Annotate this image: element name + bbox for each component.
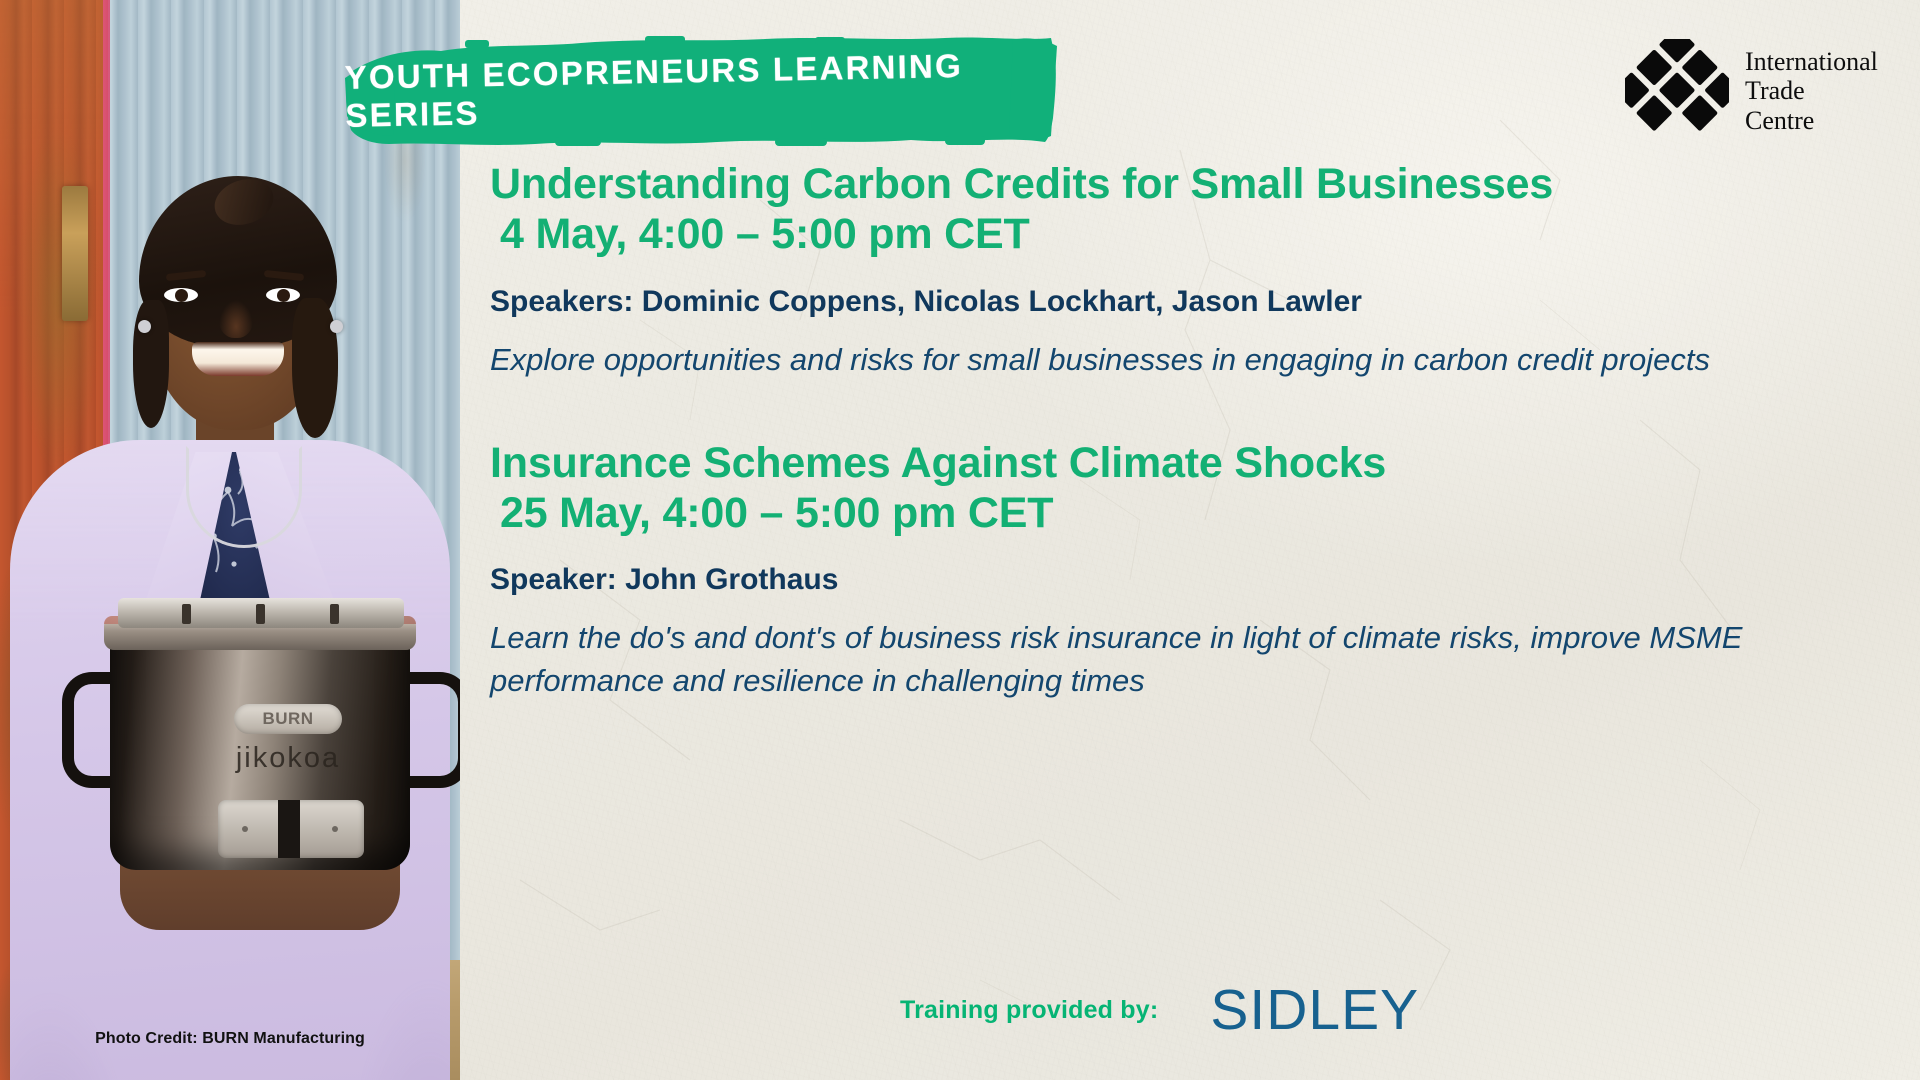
- itc-logo: International Trade Centre: [1625, 36, 1885, 146]
- session-block-1: Understanding Carbon Credits for Small B…: [490, 160, 1850, 381]
- footer-sponsor-row: Training provided by: SIDLEY: [900, 962, 1540, 1058]
- photo-credit: Photo Credit: BURN Manufacturing: [0, 1030, 460, 1048]
- itc-woven-diamond-icon: [1625, 39, 1729, 143]
- sidley-logo: SIDLEY: [1210, 977, 1419, 1043]
- photo-stove-lid-slot-1: [182, 604, 191, 624]
- photo-stove-vent-dot-1: [242, 826, 248, 832]
- session-2-speakers: Speaker: John Grothaus: [490, 563, 1850, 597]
- session-2-title: Insurance Schemes Against Climate Shocks: [490, 439, 1850, 488]
- sessions-content: Understanding Carbon Credits for Small B…: [490, 160, 1850, 702]
- itc-word-line2: Trade: [1745, 76, 1878, 105]
- training-provided-by-label: Training provided by:: [900, 996, 1158, 1025]
- session-2-description: Learn the do's and dont's of business ri…: [490, 617, 1850, 701]
- photo-stove-vent-dot-2: [332, 826, 338, 832]
- photo-stove-badge-label: BURN: [234, 706, 342, 732]
- photo-hair-right: [292, 298, 338, 438]
- series-banner: Youth Ecopreneurs Learning Series: [345, 32, 1060, 147]
- session-1-speakers: Speakers: Dominic Coppens, Nicolas Lockh…: [490, 285, 1850, 319]
- hero-photo: BURN jikokoa Photo Credit: BURN Manufact…: [0, 0, 460, 1080]
- photo-stove-lid-slot-2: [256, 604, 265, 624]
- itc-word-line1: International: [1745, 47, 1878, 76]
- photo-hands: [120, 860, 400, 930]
- session-1-description: Explore opportunities and risks for smal…: [490, 339, 1850, 381]
- photo-earring-right: [330, 320, 343, 333]
- session-1-title: Understanding Carbon Credits for Small B…: [490, 160, 1850, 209]
- series-banner-label: Youth Ecopreneurs Learning Series: [344, 25, 1061, 154]
- session-block-2: Insurance Schemes Against Climate Shocks…: [490, 439, 1850, 702]
- itc-logo-wordmark: International Trade Centre: [1745, 47, 1878, 134]
- photo-stove-lid-slot-3: [330, 604, 339, 624]
- photo-eye-left: [164, 288, 198, 302]
- photo-stove-model-label: jikokoa: [166, 742, 410, 775]
- photo-stove-vent-bar: [278, 800, 300, 858]
- photo-eye-right: [266, 288, 300, 302]
- session-2-time: 25 May, 4:00 – 5:00 pm CET: [490, 488, 1850, 540]
- poster-root: BURN jikokoa Photo Credit: BURN Manufact…: [0, 0, 1920, 1080]
- sessions-divider: [490, 381, 1850, 439]
- session-1-time: 4 May, 4:00 – 5:00 pm CET: [490, 209, 1850, 261]
- itc-word-line3: Centre: [1745, 106, 1878, 135]
- photo-nose: [219, 300, 253, 338]
- photo-smile: [192, 342, 284, 376]
- photo-door-hinge: [62, 186, 88, 321]
- photo-earring-left: [138, 320, 151, 333]
- photo-hair-left: [133, 300, 169, 428]
